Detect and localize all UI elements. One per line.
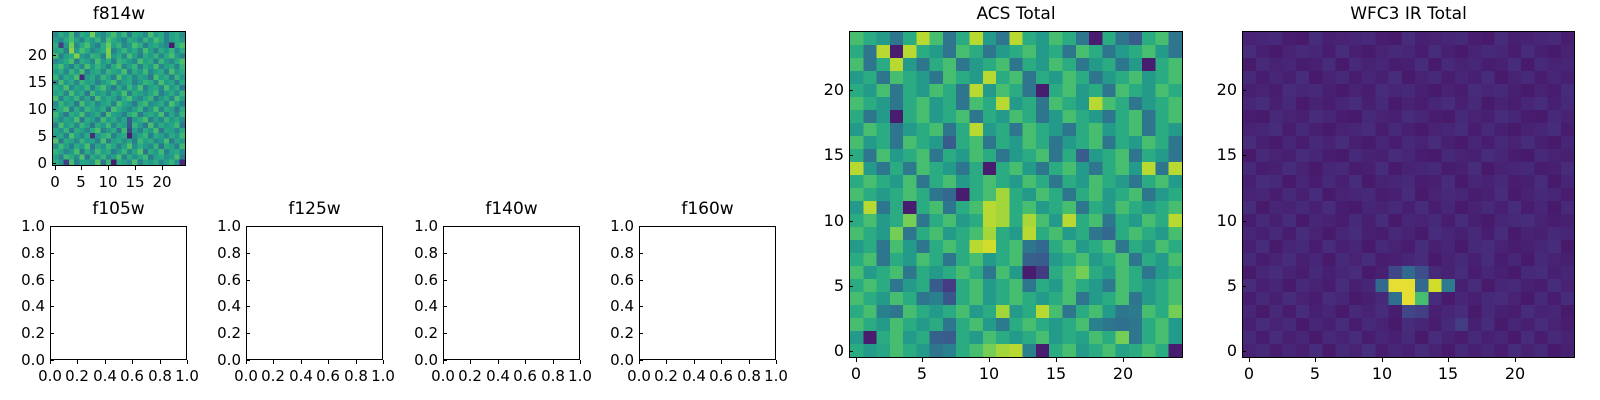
xticklabel-wfc3-ir-total: 0: [1244, 366, 1254, 382]
xtick-wfc3-ir-total: [1515, 358, 1516, 362]
yticklabel-wfc3-ir-total: 5: [1192, 278, 1237, 294]
ytick-wfc3-ir-total: [1242, 351, 1246, 352]
xtick-wfc3-ir-total: [1448, 358, 1449, 362]
yticklabel-wfc3-ir-total: 20: [1192, 82, 1237, 98]
panel-wfc3-ir-total: WFC3 IR Total0510152005101520: [0, 0, 1600, 400]
xtick-wfc3-ir-total: [1382, 358, 1383, 362]
axes-wfc3-ir-total: [1242, 31, 1575, 358]
xtick-wfc3-ir-total: [1249, 358, 1250, 362]
xticklabel-wfc3-ir-total: 20: [1505, 366, 1525, 382]
xticklabel-wfc3-ir-total: 15: [1438, 366, 1458, 382]
xticklabel-wfc3-ir-total: 10: [1372, 366, 1392, 382]
yticklabel-wfc3-ir-total: 10: [1192, 213, 1237, 229]
xtick-wfc3-ir-total: [1315, 358, 1316, 362]
ytick-wfc3-ir-total: [1242, 155, 1246, 156]
matplotlib-figure: f814w0510152005101520f105w0.00.20.40.60.…: [0, 0, 1600, 400]
xticklabel-wfc3-ir-total: 5: [1310, 366, 1320, 382]
yticklabel-wfc3-ir-total: 15: [1192, 147, 1237, 163]
ytick-wfc3-ir-total: [1242, 286, 1246, 287]
yticklabel-wfc3-ir-total: 0: [1192, 343, 1237, 359]
panel-title-wfc3-ir-total: WFC3 IR Total: [1242, 4, 1575, 24]
heatmap-image-wfc3-ir-total: [1243, 32, 1574, 357]
ytick-wfc3-ir-total: [1242, 221, 1246, 222]
ytick-wfc3-ir-total: [1242, 90, 1246, 91]
